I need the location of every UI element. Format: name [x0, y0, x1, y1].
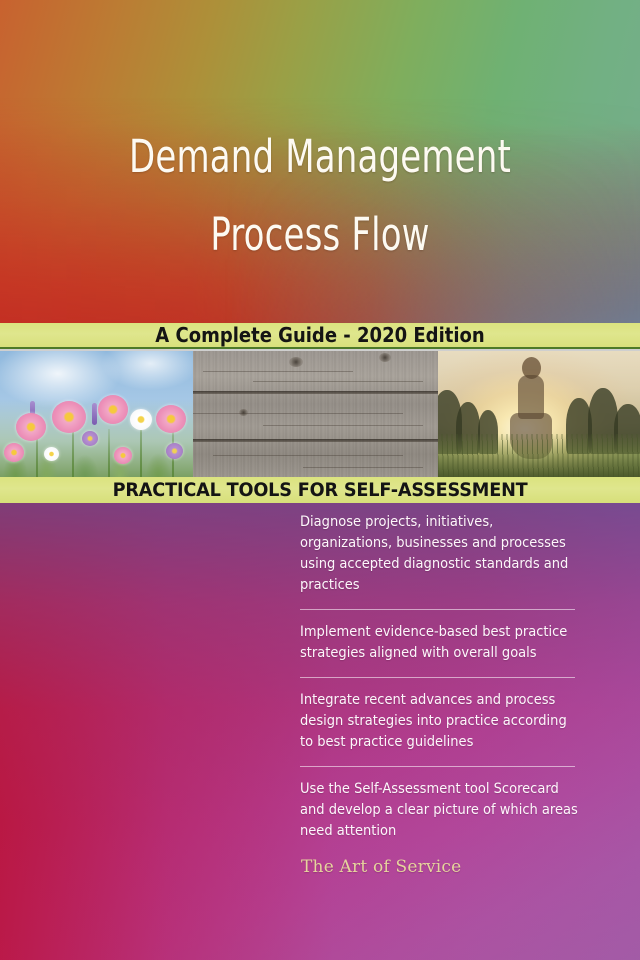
photo-pink-cosmos-flowers-blue-sky: [0, 351, 193, 477]
bullet-divider: [300, 677, 575, 678]
photo-person-in-field-at-sunset: [438, 351, 640, 477]
bullet-item: Implement evidence-based best practice s…: [300, 622, 580, 664]
practical-tools-band: PRACTICAL TOOLS FOR SELF-ASSESSMENT: [0, 477, 640, 503]
subtitle-text: A Complete Guide - 2020 Edition: [155, 323, 484, 347]
title-line-2: Process Flow: [51, 196, 589, 274]
subtitle-band: A Complete Guide - 2020 Edition: [0, 323, 640, 349]
bullet-item: Use the Self-Assessment tool Scorecard a…: [300, 779, 580, 842]
publisher-name: The Art of Service: [301, 857, 461, 877]
title-line-1: Demand Management: [51, 118, 589, 196]
book-cover: Demand Management Process Flow A Complet…: [0, 0, 640, 960]
bullet-divider: [300, 766, 575, 767]
photo-strip: [0, 351, 640, 477]
book-title: Demand Management Process Flow: [0, 118, 640, 274]
bullet-divider: [300, 609, 575, 610]
wood-texture: [193, 351, 438, 477]
practical-tools-text: PRACTICAL TOOLS FOR SELF-ASSESSMENT: [113, 479, 528, 501]
meadow-grass: [438, 434, 640, 477]
bullet-item: Diagnose projects, initiatives, organiza…: [300, 512, 580, 596]
feature-bullet-list: Diagnose projects, initiatives, organiza…: [300, 512, 580, 842]
bullet-item: Integrate recent advances and process de…: [300, 690, 580, 753]
photo-weathered-gray-wood-planks: [193, 351, 438, 477]
